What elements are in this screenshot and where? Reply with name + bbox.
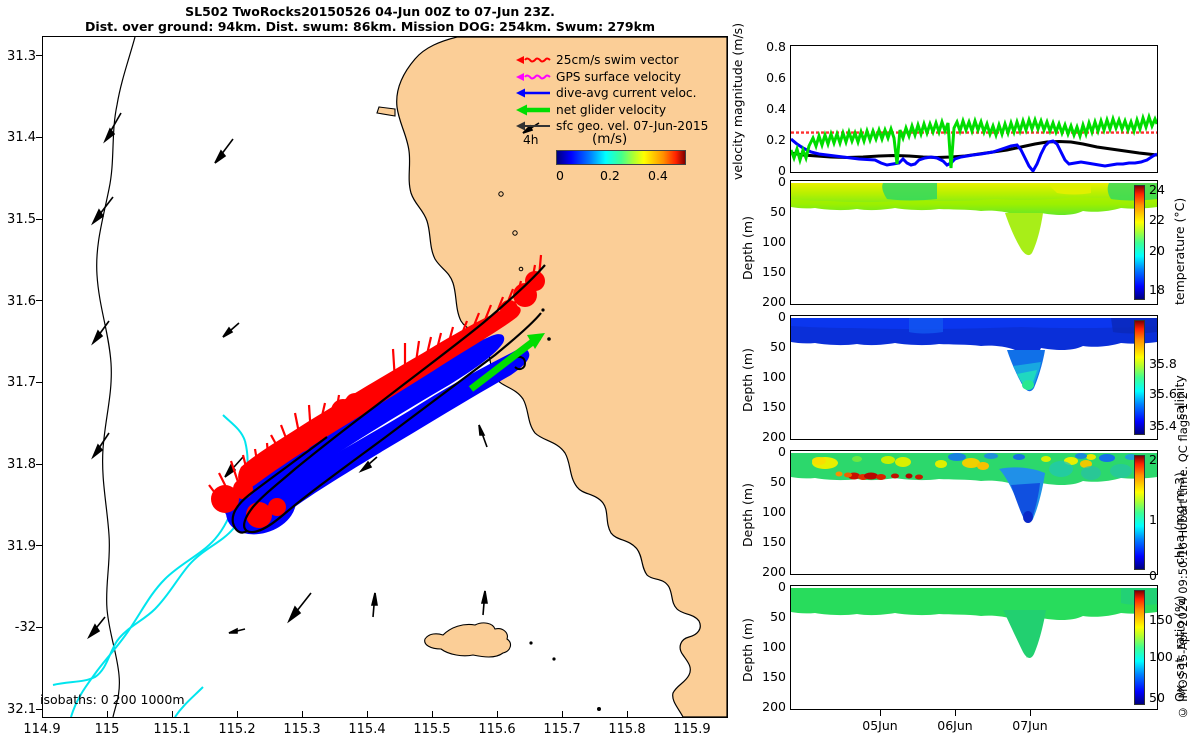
lat-tick-label: 31.6 bbox=[0, 294, 36, 309]
salinity-surface-layer bbox=[791, 318, 1157, 329]
colorbar-tick-label: 0.2 bbox=[600, 168, 620, 183]
lon-tick bbox=[432, 711, 433, 718]
salinity-section-plot bbox=[791, 316, 1157, 439]
velocity-panel-ylabel: velocity magnitude (m/s) bbox=[730, 30, 745, 180]
chla-ytick-label: 150 bbox=[752, 534, 786, 549]
lon-tick bbox=[562, 711, 563, 718]
lat-tick bbox=[36, 219, 43, 220]
harbour-notch bbox=[377, 107, 395, 116]
velocity-plot bbox=[791, 46, 1157, 172]
lon-tick bbox=[172, 711, 173, 718]
island-polygon bbox=[425, 623, 511, 657]
velocity-colorbar bbox=[556, 150, 686, 165]
colorbar-tick-label: 0.4 bbox=[648, 168, 668, 183]
net-glider-velocity-arrow-icon bbox=[514, 103, 552, 117]
title-line-1: SL502 TwoRocks20150526 04-Jun 00Z to 07-… bbox=[0, 4, 740, 19]
imos-credit-text: © IMOS 15-Apr-2024 09:50:16 Hobart time.… bbox=[1176, 392, 1190, 720]
lat-tick-label: 31.5 bbox=[0, 212, 36, 227]
lat-tick-label: 32.1 bbox=[0, 702, 36, 717]
lon-tick-label: 115.5 bbox=[402, 722, 462, 737]
salinity-ytick-label: 100 bbox=[752, 369, 786, 384]
lat-tick bbox=[36, 300, 43, 301]
velocity-ytick-label: 0.8 bbox=[752, 39, 786, 54]
legend-row-dive-avg-current: dive-avg current veloc. bbox=[514, 85, 712, 102]
chla-cb-tick: 0 bbox=[1149, 568, 1157, 583]
lon-tick bbox=[107, 711, 108, 718]
time-tick bbox=[880, 710, 881, 716]
salinity-ytick-label: 200 bbox=[752, 429, 786, 444]
net-glider-velocity-line bbox=[791, 117, 1157, 168]
lat-tick bbox=[36, 545, 43, 546]
time-tick bbox=[1030, 710, 1031, 716]
lat-tick bbox=[36, 627, 43, 628]
temperature-cb-tick: 20 bbox=[1149, 243, 1165, 258]
temperature-ytick-label: 50 bbox=[752, 204, 786, 219]
lat-tick-label: 31.8 bbox=[0, 457, 36, 472]
lat-tick bbox=[36, 55, 43, 56]
oxygen-section-plot bbox=[791, 586, 1157, 709]
temperature-deep-intrusion bbox=[1005, 213, 1043, 255]
oxygen-cb-tick: 100 bbox=[1149, 649, 1173, 664]
lon-tick bbox=[302, 711, 303, 718]
oxygen-ytick-label: 200 bbox=[752, 699, 786, 714]
lat-tick-label: 31.4 bbox=[0, 130, 36, 145]
isobath-legend-label: isobaths: 0 200 1000m bbox=[40, 692, 185, 707]
lon-tick-label: 115.2 bbox=[207, 722, 267, 737]
oxygen-cb-tick: 50 bbox=[1149, 690, 1165, 705]
lon-tick-label: 114.9 bbox=[12, 722, 72, 737]
temperature-ytick-label: 100 bbox=[752, 234, 786, 249]
oxygen-ytick-label: 0 bbox=[752, 579, 786, 594]
chla-colorbar bbox=[1134, 455, 1145, 570]
legend-unit-label: (m/s) bbox=[592, 131, 627, 147]
lon-tick bbox=[367, 711, 368, 718]
colorbar-tick-label: 0 bbox=[556, 168, 564, 183]
temperature-cb-tick: 22 bbox=[1149, 212, 1165, 227]
oxygen-section-panel[interactable] bbox=[790, 585, 1158, 710]
lat-tick-label: 31.3 bbox=[0, 49, 36, 64]
temperature-colorbar-title: temperature (°C) bbox=[1172, 190, 1187, 305]
legend-time-scale: 4h bbox=[523, 133, 538, 147]
lon-tick-label: 115 bbox=[77, 722, 137, 737]
swim-vector-arrow-icon bbox=[514, 53, 552, 67]
lon-tick-label: 115.8 bbox=[597, 722, 657, 737]
salinity-section-panel[interactable] bbox=[790, 315, 1158, 440]
temperature-ytick-label: 0 bbox=[752, 174, 786, 189]
legend-label: dive-avg current veloc. bbox=[556, 85, 697, 102]
lon-tick-label: 115.7 bbox=[532, 722, 592, 737]
temperature-cb-tick: 18 bbox=[1149, 282, 1165, 297]
dive-avg-current-arrow-icon bbox=[514, 86, 552, 100]
title-line-2: Dist. over ground: 94km. Dist. swum: 86k… bbox=[0, 19, 740, 34]
temperature-ytick-label: 200 bbox=[752, 294, 786, 309]
velocity-ytick-label: 0.2 bbox=[752, 132, 786, 147]
velocity-magnitude-panel[interactable] bbox=[790, 45, 1158, 173]
temperature-section-plot bbox=[791, 181, 1157, 304]
map-legend: 25cm/s swim vector GPS surface velocity … bbox=[514, 52, 712, 135]
time-tick-label: 05Jun bbox=[854, 718, 906, 733]
legend-label: GPS surface velocity bbox=[556, 69, 681, 86]
lon-tick bbox=[497, 711, 498, 718]
lon-tick-label: 115.6 bbox=[467, 722, 527, 737]
chla-ytick-label: 100 bbox=[752, 504, 786, 519]
velocity-ytick-label: 0.6 bbox=[752, 70, 786, 85]
salinity-field bbox=[791, 318, 1157, 388]
temperature-colorbar bbox=[1134, 185, 1145, 300]
oxygen-cb-tick: 150 bbox=[1149, 612, 1173, 627]
lat-tick-label: -32 bbox=[0, 620, 36, 635]
chla-cb-tick: 2 bbox=[1149, 452, 1157, 467]
salinity-ytick-label: 150 bbox=[752, 399, 786, 414]
chla-ytick-label: 0 bbox=[752, 444, 786, 459]
temperature-section-panel[interactable] bbox=[790, 180, 1158, 305]
legend-row-swim-vector: 25cm/s swim vector bbox=[514, 52, 712, 69]
lat-tick bbox=[36, 137, 43, 138]
time-tick bbox=[955, 710, 956, 716]
chla-cb-tick: 1 bbox=[1149, 512, 1157, 527]
velocity-ytick-label: 0.4 bbox=[752, 101, 786, 116]
temperature-ytick-label: 150 bbox=[752, 264, 786, 279]
gps-surface-velocity-arrow-icon bbox=[514, 70, 552, 84]
oxygen-colorbar bbox=[1134, 590, 1145, 705]
lon-tick bbox=[237, 711, 238, 718]
legend-row-gps-surface-velocity: GPS surface velocity bbox=[514, 69, 712, 86]
legend-row-net-glider-velocity: net glider velocity bbox=[514, 102, 712, 119]
oxygen-ytick-label: 150 bbox=[752, 669, 786, 684]
chla-ytick-label: 50 bbox=[752, 474, 786, 489]
sfc-geo-velocity-arrow-icon bbox=[514, 119, 552, 133]
time-tick-label: 07Jun bbox=[1004, 718, 1056, 733]
velocity-colorbar-ticks: 0 0.2 0.4 bbox=[548, 168, 698, 184]
salinity-ytick-label: 50 bbox=[752, 339, 786, 354]
lat-tick-label: 31.9 bbox=[0, 539, 36, 554]
lat-tick bbox=[36, 382, 43, 383]
chla-section-panel[interactable] bbox=[790, 450, 1158, 575]
salinity-ytick-label: 0 bbox=[752, 309, 786, 324]
legend-label: sfc geo. vel. 07-Jun-2015 bbox=[556, 118, 708, 135]
lat-tick bbox=[36, 464, 43, 465]
time-tick-label: 06Jun bbox=[929, 718, 981, 733]
lon-tick bbox=[42, 711, 43, 718]
lon-tick-label: 115.3 bbox=[272, 722, 332, 737]
lon-tick-label: 115.1 bbox=[142, 722, 202, 737]
oxygen-ytick-label: 50 bbox=[752, 609, 786, 624]
isobath-200 bbox=[97, 37, 135, 717]
temperature-cb-tick: 24 bbox=[1149, 182, 1165, 197]
lat-tick-label: 31.7 bbox=[0, 375, 36, 390]
lon-tick bbox=[627, 711, 628, 718]
oxygen-field bbox=[791, 588, 1157, 658]
legend-label: net glider velocity bbox=[556, 102, 666, 119]
oxygen-ytick-label: 100 bbox=[752, 639, 786, 654]
chla-ytick-label: 200 bbox=[752, 564, 786, 579]
oxygen-deep-plume bbox=[1003, 610, 1046, 658]
lon-tick-label: 115.9 bbox=[662, 722, 722, 737]
salinity-cb-tick: 35.4 bbox=[1149, 418, 1177, 433]
legend-label: 25cm/s swim vector bbox=[556, 52, 679, 69]
lon-tick-label: 115.4 bbox=[337, 722, 397, 737]
figure-title: SL502 TwoRocks20150526 04-Jun 00Z to 07-… bbox=[0, 4, 740, 34]
salinity-colorbar bbox=[1134, 320, 1145, 435]
chla-section-plot bbox=[791, 451, 1157, 574]
